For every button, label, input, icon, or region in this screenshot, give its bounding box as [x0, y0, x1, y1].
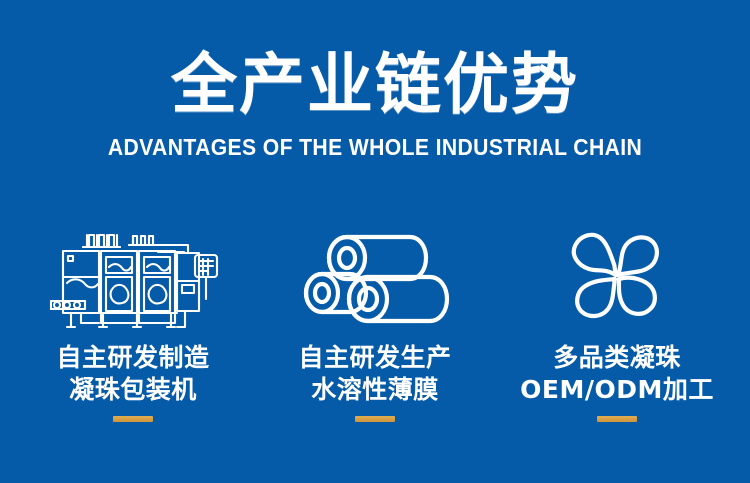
accent-underline	[355, 416, 395, 422]
page-title: 全产业链优势	[0, 48, 750, 122]
feature-label-line1: 多品类凝珠	[520, 342, 714, 374]
feature-label-line2: 凝珠包装机	[56, 374, 209, 406]
laundry-pod-icon	[556, 218, 678, 336]
feature-label-line1: 自主研发制造	[56, 342, 209, 374]
accent-underline	[113, 416, 153, 422]
feature-item-water-soluble-film: 自主研发生产 水溶性薄膜	[260, 218, 490, 422]
feature-label-line1: 自主研发生产	[298, 342, 451, 374]
page-subtitle: ADVANTAGES OF THE WHOLE INDUSTRIAL CHAIN	[30, 134, 720, 160]
accent-underline	[597, 416, 637, 422]
promo-banner: 全产业链优势 ADVANTAGES OF THE WHOLE INDUSTRIA…	[0, 0, 750, 483]
feature-label-line2: OEM/ODM加工	[520, 374, 714, 406]
feature-label: 自主研发制造 凝珠包装机	[56, 342, 209, 406]
feature-label-line2: 水溶性薄膜	[298, 374, 451, 406]
feature-label: 自主研发生产 水溶性薄膜	[298, 342, 451, 406]
packaging-machine-icon	[45, 218, 221, 336]
feature-item-packaging-machine: 自主研发制造 凝珠包装机	[18, 218, 248, 422]
feature-item-oem-odm: 多品类凝珠 OEM/ODM加工	[502, 218, 732, 422]
feature-list: 自主研发制造 凝珠包装机	[0, 218, 750, 458]
film-rolls-icon	[300, 218, 450, 336]
banner-heading: 全产业链优势 ADVANTAGES OF THE WHOLE INDUSTRIA…	[0, 48, 750, 160]
feature-label: 多品类凝珠 OEM/ODM加工	[520, 342, 714, 406]
